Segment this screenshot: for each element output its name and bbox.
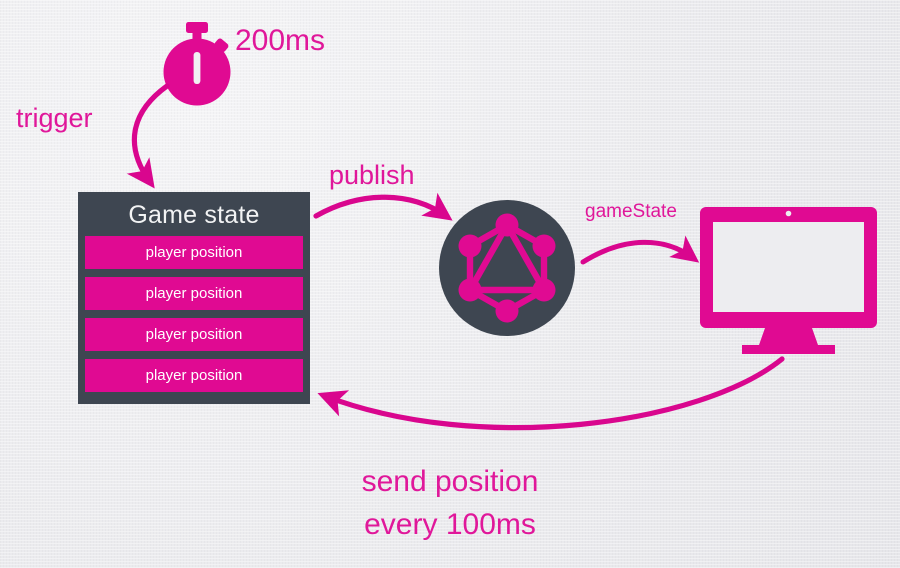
publish-arrow-label: publish (329, 160, 415, 191)
graphql-server-node (439, 200, 575, 336)
stopwatch-icon (164, 22, 231, 106)
diagram-canvas: Game state player position player positi… (0, 0, 900, 568)
game-state-panel: Game state player position player positi… (78, 192, 310, 404)
publish-arrow (316, 197, 446, 216)
list-item[interactable]: player position (85, 277, 303, 310)
gamestate-arrow (583, 242, 693, 262)
send-position-caption-line1: send position (0, 460, 900, 503)
trigger-arrow (134, 86, 167, 182)
send-position-caption: send position every 100ms (0, 460, 900, 546)
send-position-arrow (325, 359, 782, 428)
panel-title: Game state (85, 198, 303, 232)
list-item[interactable]: player position (85, 318, 303, 351)
send-position-caption-line2: every 100ms (0, 503, 900, 546)
list-item[interactable]: player position (85, 236, 303, 269)
gamestate-arrow-label: gameState (585, 201, 677, 223)
desktop-monitor-icon (700, 207, 877, 354)
trigger-arrow-label: trigger (16, 103, 93, 134)
list-item[interactable]: player position (85, 359, 303, 392)
player-position-list: player position player position player p… (85, 236, 303, 392)
timer-interval-label: 200ms (235, 24, 325, 58)
